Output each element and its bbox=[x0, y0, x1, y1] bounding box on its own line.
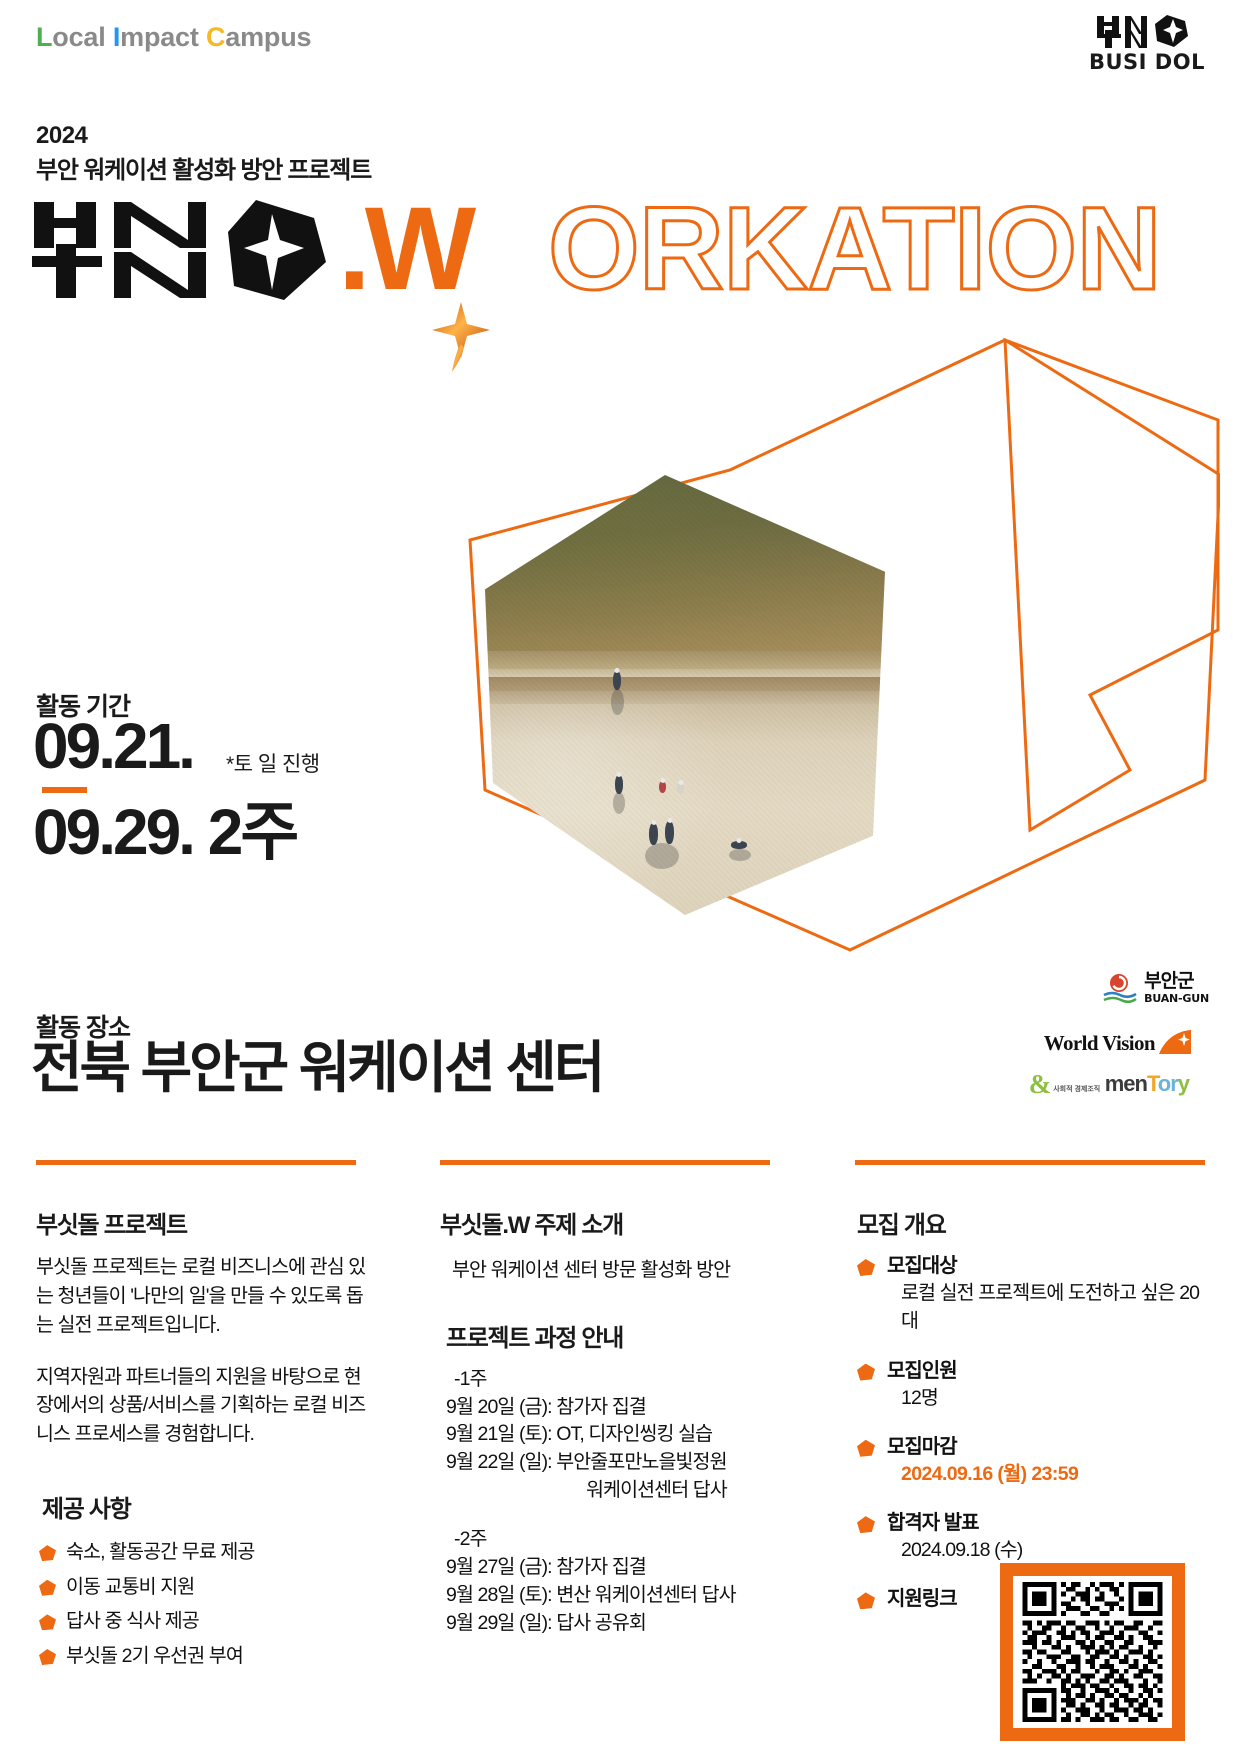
mentory-ampersand: & bbox=[1029, 1072, 1052, 1096]
mentory-t: T bbox=[1147, 1071, 1158, 1096]
photo-person-shadow bbox=[645, 843, 679, 869]
buan-gun-english: BUAN-GUN bbox=[1144, 993, 1209, 1004]
schedule-row: 9월 29일 (일): 답사 공유회 bbox=[446, 1610, 770, 1638]
recruit-item-title: 모집대상 bbox=[887, 1253, 1205, 1279]
schedule-row-continued: 워케이션센터 답사 bbox=[446, 1477, 770, 1505]
poster-year: 2024 bbox=[36, 122, 87, 150]
list-item: 부싯돌 2기 우선권 부여 bbox=[36, 1642, 366, 1672]
photo-person bbox=[665, 821, 674, 844]
column-project-intro: 부싯돌 프로젝트 부싯돌 프로젝트는 로컬 비즈니스에 관심 있는 청년들이 '… bbox=[36, 1160, 366, 1677]
recruit-item-title: 합격자 발표 bbox=[887, 1510, 1205, 1536]
recruit-item-value: 로컬 실전 프로젝트에 도전하고 싶은 20대 bbox=[901, 1279, 1205, 1336]
world-vision-logo: World Vision bbox=[1044, 1030, 1191, 1056]
photo-person-shadow bbox=[613, 792, 625, 814]
left-paragraph-1: 부싯돌 프로젝트는 로컬 비즈니스에 관심 있는 청년들이 '나만의 일'을 만… bbox=[36, 1253, 366, 1340]
recruit-item-title: 모집인원 bbox=[887, 1358, 1205, 1384]
photo-person bbox=[659, 781, 666, 793]
busidol-logo-text: BUSI DOL bbox=[1081, 50, 1213, 74]
week1-label: -1주 bbox=[454, 1366, 770, 1394]
schedule-week2: -2주 9월 27일 (금): 참가자 집결 9월 28일 (토): 변산 워케… bbox=[446, 1526, 770, 1637]
mid-heading: 부싯돌.W 주제 소개 bbox=[440, 1205, 770, 1240]
buan-gun-logo: 부안군 BUAN-GUN bbox=[1103, 972, 1209, 1004]
local-impact-campus-logo: Local Impact Campus bbox=[36, 22, 311, 53]
column-rule bbox=[36, 1160, 356, 1165]
busidol-logo: BUSI DOL bbox=[1081, 14, 1213, 76]
wordmark-orkation: ORKATION bbox=[548, 190, 1161, 308]
recruit-list: 모집대상 로컬 실전 프로젝트에 도전하고 싶은 20대 모집인원 12명 모집… bbox=[857, 1253, 1205, 1612]
list-item: 이동 교통비 지원 bbox=[36, 1573, 366, 1603]
wordmark: .W ORKATION bbox=[28, 196, 1128, 316]
offers-list: 숙소, 활동공간 무료 제공 이동 교통비 지원 답사 중 식사 제공 부싯돌 … bbox=[36, 1538, 366, 1672]
mentory-text: 사회적 경제조직 menTory bbox=[1053, 1074, 1189, 1096]
left-heading: 부싯돌 프로젝트 bbox=[36, 1205, 366, 1240]
mentory-logo: & 사회적 경제조직 menTory bbox=[1029, 1072, 1189, 1096]
mid-lead-text: 부안 워케이션 센터 방문 활성화 방안 bbox=[452, 1253, 770, 1282]
schedule-row: 9월 22일 (일): 부안줄포만노을빛정원 bbox=[446, 1449, 770, 1477]
buan-gun-korean: 부안군 bbox=[1144, 972, 1209, 991]
poster-root: Local Impact Campus BUSI DOL 2024 부안 워케이… bbox=[0, 0, 1241, 1754]
photo-person bbox=[731, 841, 747, 849]
apply-qr-code[interactable] bbox=[1000, 1563, 1185, 1741]
schedule-row: 9월 28일 (토): 변산 워케이션센터 답사 bbox=[446, 1582, 770, 1610]
mentory-or: or bbox=[1158, 1071, 1178, 1096]
schedule-row: 9월 21일 (토): OT, 디자인씽킹 실습 bbox=[446, 1421, 770, 1449]
mentory-y: y bbox=[1178, 1071, 1189, 1096]
lic-text-ampus: ampus bbox=[225, 22, 311, 52]
period-end-date: 09.29. 2주 bbox=[33, 800, 296, 864]
qr-code-icon[interactable] bbox=[1019, 1582, 1166, 1722]
buan-gun-mark-icon bbox=[1103, 973, 1137, 1003]
mentory-men: men bbox=[1105, 1071, 1147, 1096]
hero-graphic bbox=[430, 300, 1220, 960]
wordmark-korean-busit-icon bbox=[28, 196, 328, 306]
recruit-item-value: 12명 bbox=[901, 1384, 1205, 1412]
list-item: 숙소, 활동공간 무료 제공 bbox=[36, 1538, 366, 1568]
schedule-row: 9월 27일 (금): 참가자 집결 bbox=[446, 1554, 770, 1582]
column-rule bbox=[440, 1160, 770, 1165]
world-vision-text: World Vision bbox=[1044, 1031, 1155, 1056]
mentory-name: menTory bbox=[1105, 1071, 1189, 1096]
week2-label: -2주 bbox=[454, 1526, 770, 1554]
schedule-row: 9월 20일 (금): 참가자 집결 bbox=[446, 1394, 770, 1422]
recruit-heading: 모집 개요 bbox=[857, 1205, 1205, 1240]
poster-subtitle: 부안 워케이션 활성화 방안 프로젝트 bbox=[36, 150, 371, 185]
offers-heading: 제공 사항 bbox=[42, 1489, 366, 1524]
list-item: 합격자 발표 2024.09.18 (수) bbox=[857, 1510, 1205, 1564]
list-item: 답사 중 식사 제공 bbox=[36, 1607, 366, 1637]
sparkle-comet-icon bbox=[430, 300, 492, 372]
column-rule bbox=[855, 1160, 1205, 1165]
sponsor-logos: 부안군 BUAN-GUN World Vision & 사회적 경제조직 men… bbox=[1017, 972, 1217, 1112]
lic-text-mpact: mpact bbox=[120, 22, 206, 52]
photo-person bbox=[613, 671, 621, 690]
left-paragraph-2: 지역자원과 파트너들의 지원을 바탕으로 현장에서의 상품/서비스를 기획하는 … bbox=[36, 1363, 366, 1450]
recruit-deadline-value: 2024.09.16 (월) 23:59 bbox=[901, 1460, 1205, 1488]
world-vision-swoosh-icon bbox=[1157, 1030, 1191, 1056]
list-item: 모집마감 2024.09.16 (월) 23:59 bbox=[857, 1434, 1205, 1488]
schedule-gap bbox=[440, 1504, 770, 1526]
lic-text-ocal: ocal bbox=[52, 22, 113, 52]
schedule-heading: 프로젝트 과정 안내 bbox=[446, 1318, 770, 1353]
buan-gun-text: 부안군 BUAN-GUN bbox=[1144, 972, 1209, 1004]
busidol-mark-icon bbox=[1095, 14, 1199, 50]
recruit-item-title: 모집마감 bbox=[887, 1434, 1205, 1460]
photo-person-shadow bbox=[611, 689, 624, 715]
period-start-date: 09.21. bbox=[33, 714, 193, 778]
mentory-tagline: 사회적 경제조직 bbox=[1053, 1086, 1100, 1093]
place-value: 전북 부안군 워케이션 센터 bbox=[31, 1037, 602, 1099]
recruit-item-value: 2024.09.18 (수) bbox=[901, 1536, 1205, 1564]
schedule-week1: -1주 9월 20일 (금): 참가자 집결 9월 21일 (토): OT, 디… bbox=[446, 1366, 770, 1504]
period-range-dash bbox=[42, 787, 87, 793]
period-note: *토 일 진행 bbox=[226, 748, 320, 778]
lic-letter-c: C bbox=[206, 22, 225, 52]
column-topic-schedule: 부싯돌.W 주제 소개 부안 워케이션 센터 방문 활성화 방안 프로젝트 과정… bbox=[440, 1160, 770, 1637]
list-item: 모집대상 로컬 실전 프로젝트에 도전하고 싶은 20대 bbox=[857, 1253, 1205, 1336]
photo-person-shadow bbox=[729, 849, 751, 861]
lic-letter-l: L bbox=[36, 22, 52, 52]
photo-person bbox=[649, 823, 658, 845]
wordmark-dot-w: .W bbox=[338, 190, 470, 308]
photo-person bbox=[677, 783, 684, 794]
list-item: 모집인원 12명 bbox=[857, 1358, 1205, 1412]
